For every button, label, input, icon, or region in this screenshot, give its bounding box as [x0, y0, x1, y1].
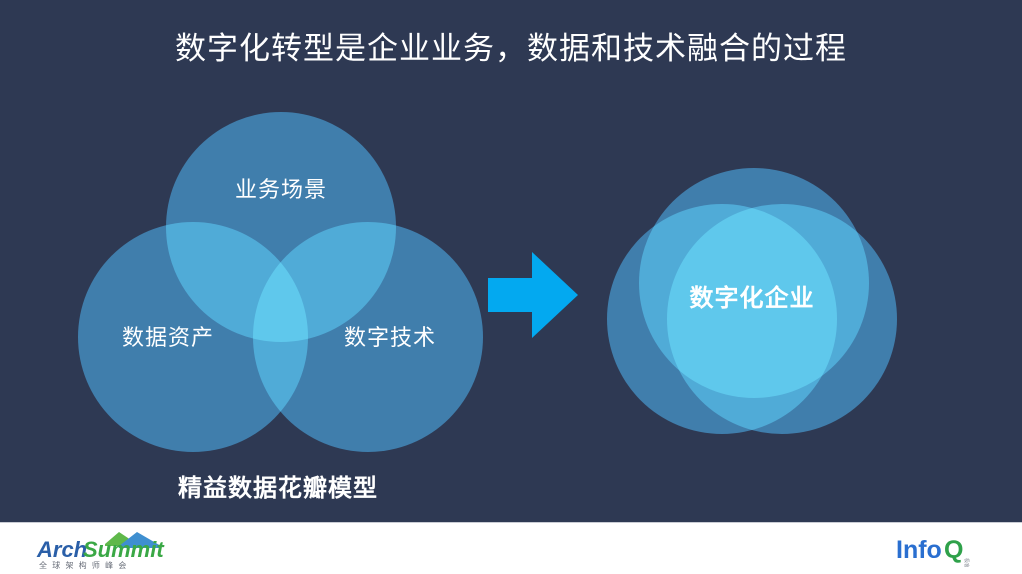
archsummit-word-two: Summit [83, 537, 165, 562]
venn-diagram: 业务场景 数据资产 数字技术 [78, 112, 478, 472]
infoq-mark: 极客邦 [963, 558, 970, 567]
archsummit-subtitle: 全 球 架 构 师 峰 会 [39, 560, 128, 570]
infoq-logo: Info Q 极客邦 [894, 531, 1004, 567]
slide-canvas: 数字化转型是企业业务，数据和技术融合的过程 业务场景 数据资产 数字技术 精益数… [0, 0, 1022, 574]
venn-label-data-asset: 数据资产 [88, 320, 248, 352]
merged-circle-right [667, 204, 897, 434]
infoq-word-two: Q [944, 536, 963, 564]
infoq-word-one: Info [896, 536, 942, 564]
venn-label-business-scenario: 业务场景 [195, 172, 367, 204]
page-title: 数字化转型是企业业务，数据和技术融合的过程 [0, 30, 1022, 69]
venn-caption: 精益数据花瓣模型 [78, 468, 478, 503]
venn-label-digital-tech: 数字技术 [310, 320, 470, 352]
archsummit-word-one: Arch [36, 537, 87, 562]
merged-result-label: 数字化企业 [607, 278, 897, 313]
right-arrow-icon [488, 252, 578, 338]
footer-bar: Arch Summit 全 球 架 构 师 峰 会 Info Q 极客邦 [0, 522, 1022, 574]
archsummit-logo: Arch Summit 全 球 架 构 师 峰 会 [33, 530, 183, 570]
